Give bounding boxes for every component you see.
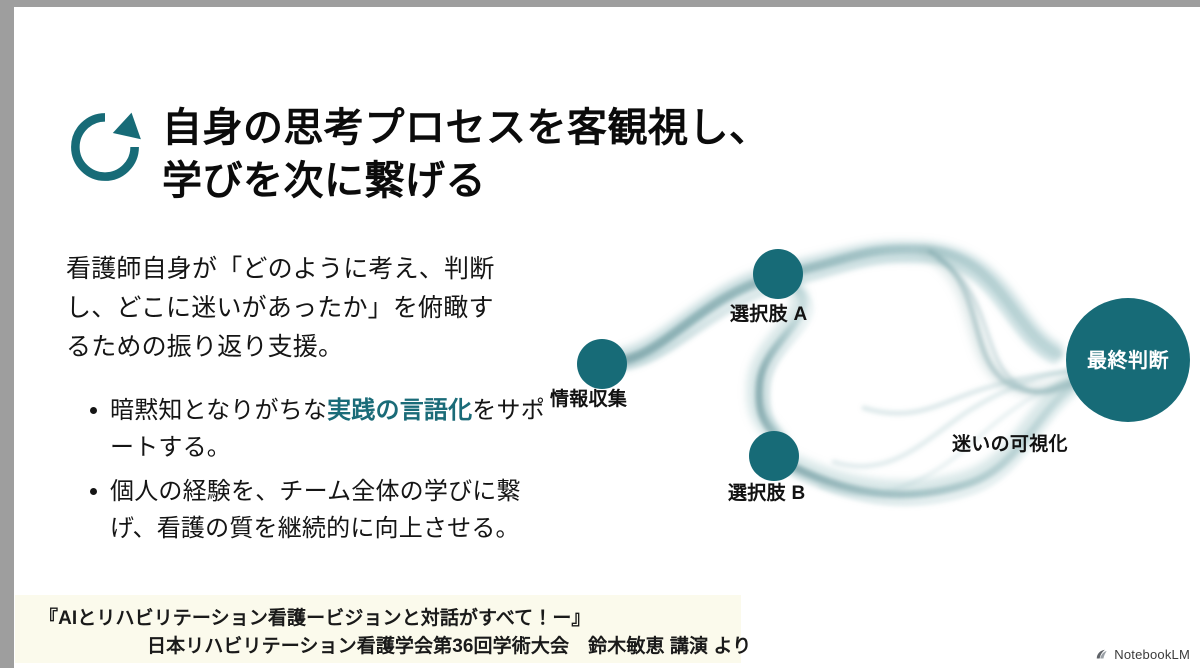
bullet-text-before: 暗黙知となりがちな [110,397,327,424]
diagram-label-uncertainty: 迷いの可視化 [952,429,1068,456]
citation-line-1: 『AIとリハビリテーション看護ービジョンと対話がすべて！ー』 [39,603,591,630]
diagram-label-option-b: 選択肢 B [728,478,806,505]
citation-line-2: 日本リハビリテーション看護学会第36回学術大会 鈴木敏恵 講演 より [147,631,751,658]
refresh-loop-icon [66,108,144,186]
watermark-label: NotebookLM [1114,647,1190,662]
diagram-strand-layer [606,249,1104,503]
diagram-label-final: 最終判断 [1073,344,1183,373]
diagram-node-option-b [749,431,799,481]
diagram-label-info: 情報収集 [550,384,627,411]
slide-header: 自身の思考プロセスを客観視し、 学びを次に繋げる [66,102,770,208]
bullet-text-before: 個人の経験を、チーム全体の学びに繋げ、看護の質を継続的に向上させる。 [110,478,521,542]
diagram-label-option-a: 選択肢 A [730,299,808,326]
flow-diagram-svg [534,212,1200,542]
notebooklm-watermark: NotebookLM [1095,647,1190,662]
diagram-node-info [577,339,627,389]
bullet-accent-phrase: 実践の言語化 [327,397,472,424]
list-item: 個人の経験を、チーム全体の学びに繋げ、看護の質を継続的に向上させる。 [110,473,546,548]
slide-frame: 自身の思考プロセスを客観視し、 学びを次に繋げる 看護師自身が「どのように考え、… [0,0,1200,668]
lead-paragraph: 看護師自身が「どのように考え、判断し、どこに迷いがあったか」を俯瞰するための振り… [66,250,496,366]
notebooklm-logo-icon [1095,648,1109,662]
flow-diagram: 情報収集 選択肢 A 選択肢 B 迷いの可視化 最終判断 [534,212,1200,542]
page-title: 自身の思考プロセスを客観視し、 学びを次に繋げる [162,102,770,208]
bullet-list: 暗黙知となりがちな実践の言語化をサポートする。 個人の経験を、チーム全体の学びに… [80,392,546,554]
citation-band: 『AIとリハビリテーション看護ービジョンと対話がすべて！ー』 日本リハビリテーシ… [15,595,741,663]
diagram-node-option-a [753,249,803,299]
list-item: 暗黙知となりがちな実践の言語化をサポートする。 [110,392,546,467]
slide-canvas: 自身の思考プロセスを客観視し、 学びを次に繋げる 看護師自身が「どのように考え、… [14,7,1200,668]
